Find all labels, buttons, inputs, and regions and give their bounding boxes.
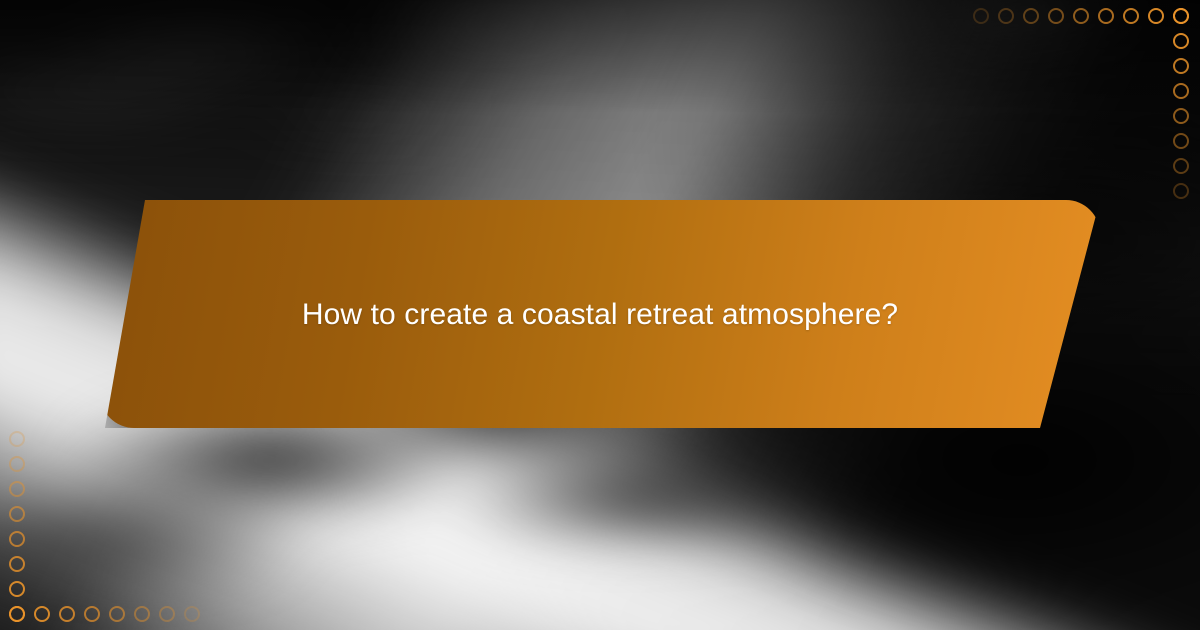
- decorative-dots-bottom-left: [0, 430, 215, 630]
- decorative-dot: [1173, 83, 1189, 99]
- decorative-dot: [59, 606, 75, 622]
- decorative-dot: [1073, 8, 1089, 24]
- decorative-dot: [1123, 8, 1139, 24]
- decorative-dot: [134, 606, 150, 622]
- decorative-dot: [1173, 8, 1189, 24]
- dot-column-left: [9, 431, 25, 622]
- decorative-dot: [159, 606, 175, 622]
- decorative-dot: [9, 506, 25, 522]
- question-text: How to create a coastal retreat atmosphe…: [262, 295, 938, 334]
- decorative-dot: [9, 606, 25, 622]
- decorative-dot: [84, 606, 100, 622]
- decorative-dot: [1023, 8, 1039, 24]
- decorative-dot: [1173, 183, 1189, 199]
- decorative-dot: [1098, 8, 1114, 24]
- decorative-dot: [1173, 108, 1189, 124]
- dot-row-top: [973, 8, 1189, 24]
- decorative-dot: [998, 8, 1014, 24]
- decorative-dot: [9, 556, 25, 572]
- decorative-dot: [1173, 158, 1189, 174]
- decorative-dot: [9, 531, 25, 547]
- dot-row-bottom: [9, 606, 200, 622]
- decorative-dot: [9, 481, 25, 497]
- decorative-dots-top-right: [990, 0, 1200, 215]
- decorative-dot: [1173, 133, 1189, 149]
- decorative-dot: [1148, 8, 1164, 24]
- question-card[interactable]: How to create a coastal retreat atmosphe…: [100, 200, 1100, 428]
- decorative-dot: [973, 8, 989, 24]
- screenshot-canvas: How to create a coastal retreat atmosphe…: [0, 0, 1200, 630]
- dot-column-right: [1173, 8, 1189, 199]
- decorative-dot: [9, 456, 25, 472]
- decorative-dot: [9, 581, 25, 597]
- decorative-dot: [1173, 58, 1189, 74]
- decorative-dot: [9, 431, 25, 447]
- decorative-dot: [34, 606, 50, 622]
- decorative-dot: [1173, 33, 1189, 49]
- decorative-dot: [1048, 8, 1064, 24]
- decorative-dot: [109, 606, 125, 622]
- decorative-dot: [184, 606, 200, 622]
